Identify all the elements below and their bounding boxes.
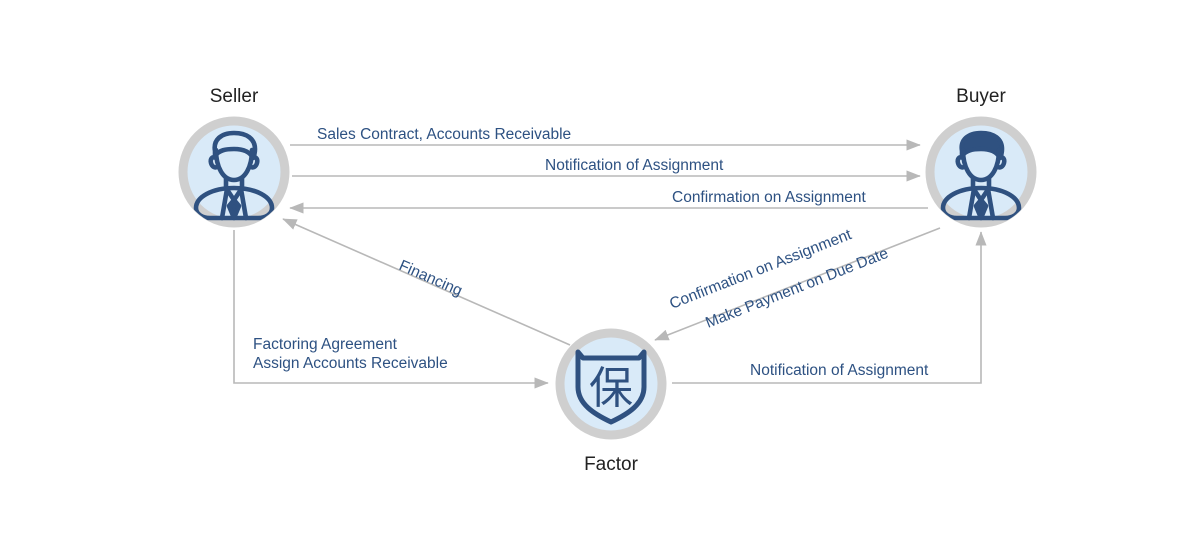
edge-seller-to-buyer-notification: Notification of Assignment: [292, 157, 920, 176]
edge-label-assign-accounts-receivable: Assign Accounts Receivable: [253, 355, 448, 372]
diagram-canvas: Sales Contract, Accounts Receivable Noti…: [0, 0, 1201, 545]
edge-factor-to-buyer-notification: Notification of Assignment: [672, 232, 981, 383]
edge-line: [672, 232, 981, 383]
node-label-seller: Seller: [210, 86, 259, 107]
edge-buyer-to-seller-confirmation: Confirmation on Assignment: [290, 189, 928, 208]
edge-seller-to-buyer-sales: Sales Contract, Accounts Receivable: [290, 126, 920, 145]
edge-label-confirmation-assignment: Confirmation on Assignment: [672, 189, 867, 206]
factoring-flow-diagram: Sales Contract, Accounts Receivable Noti…: [0, 0, 1201, 545]
edge-label-factoring-agreement: Factoring Agreement: [253, 336, 398, 353]
node-factor[interactable]: 保 Factor: [560, 333, 662, 475]
edge-label-notification-assignment-top: Notification of Assignment: [545, 157, 724, 174]
node-seller[interactable]: Seller: [183, 86, 285, 223]
edge-seller-to-factor-agreement: Factoring Agreement Assign Accounts Rece…: [234, 230, 548, 383]
edge-label-sales-contract: Sales Contract, Accounts Receivable: [317, 126, 571, 143]
node-buyer[interactable]: Buyer: [930, 86, 1032, 223]
node-label-factor: Factor: [584, 454, 639, 475]
node-label-buyer: Buyer: [956, 86, 1006, 107]
edge-buyer-to-factor-confirm-payment: Confirmation on Assignment Make Payment …: [655, 226, 940, 340]
edge-factor-to-seller-financing: Financing: [283, 219, 570, 345]
shield-icon-glyph: 保: [589, 363, 633, 414]
edge-label-notification-assignment-bottom: Notification of Assignment: [750, 362, 929, 379]
edge-label-financing: Financing: [396, 257, 464, 300]
